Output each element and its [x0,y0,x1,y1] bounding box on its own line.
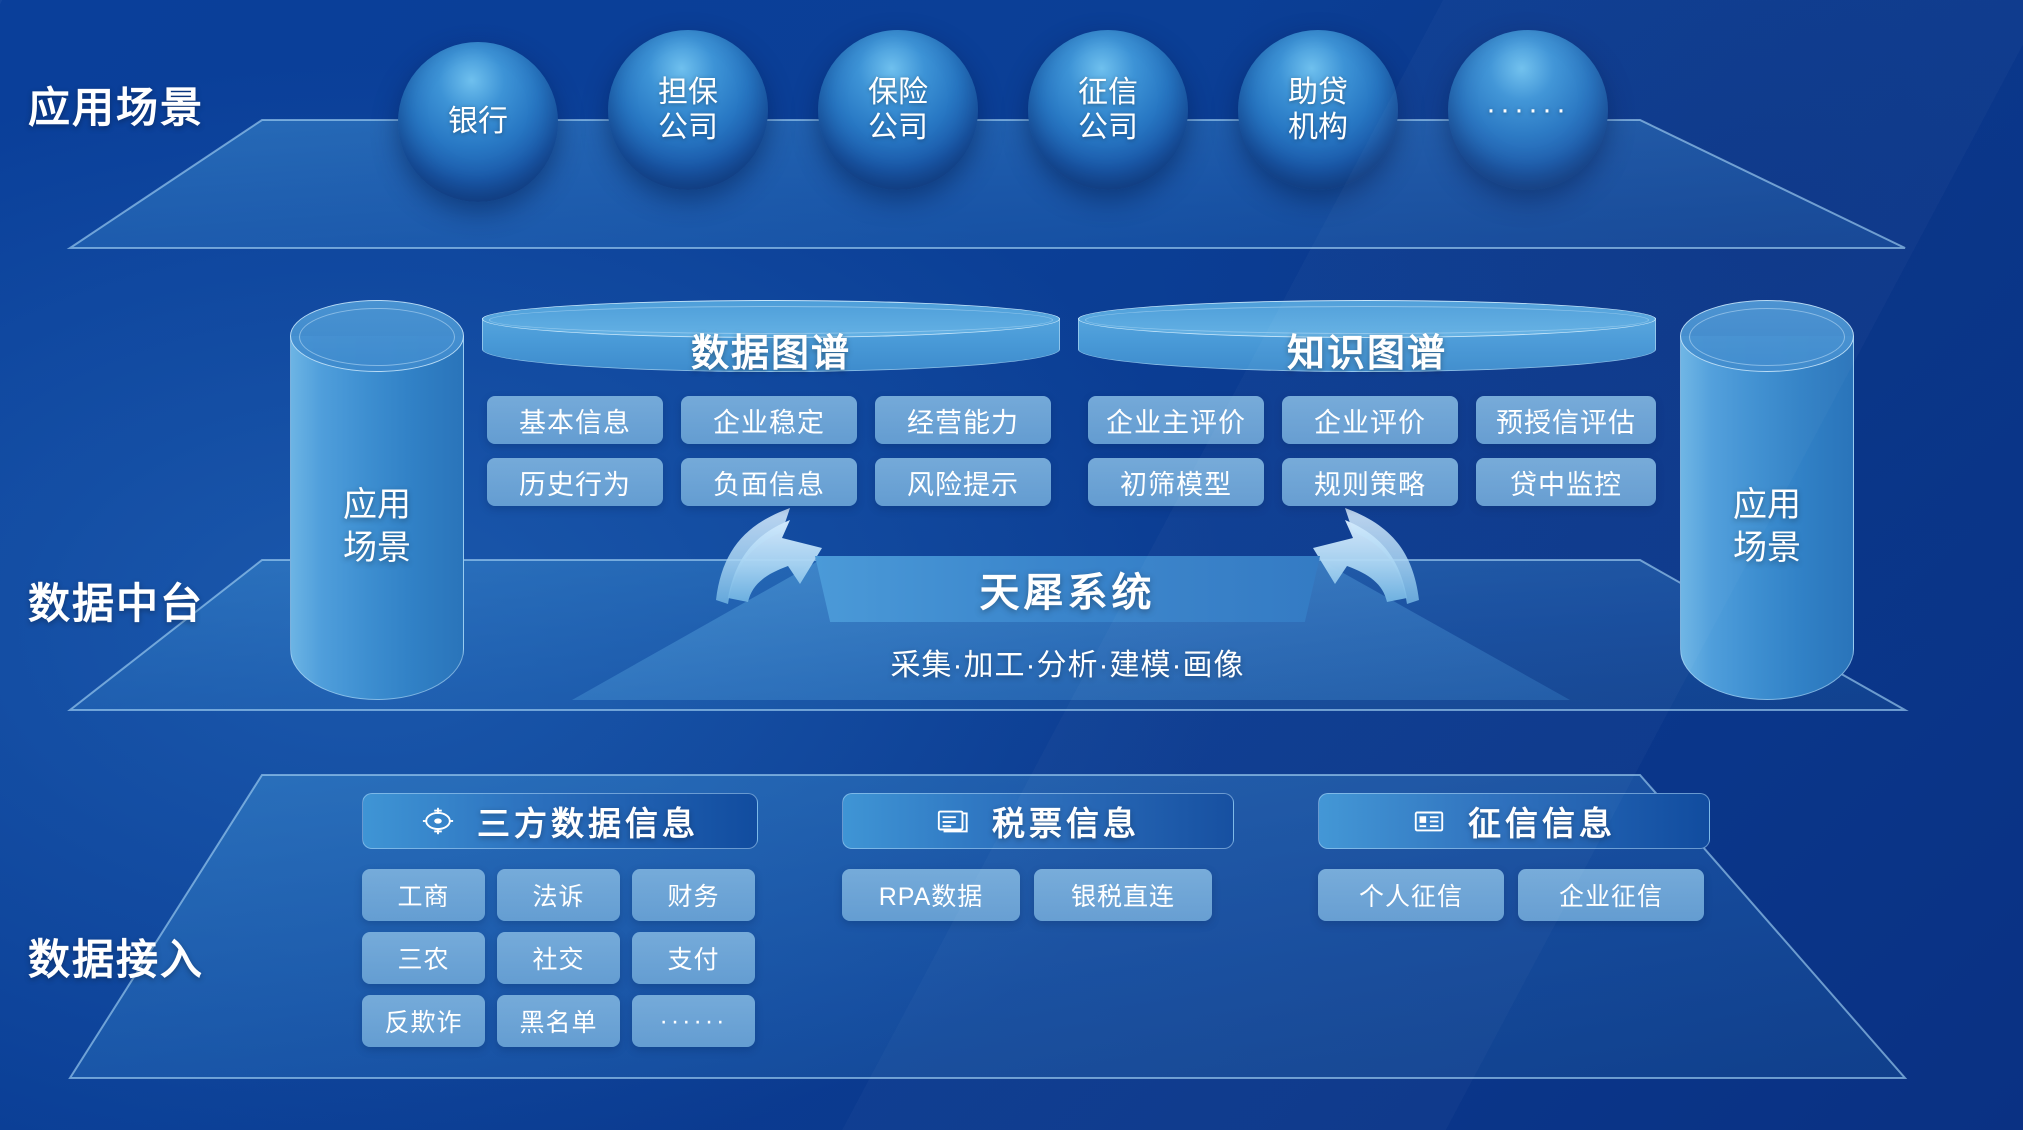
arrow-up-right-icon [1313,508,1419,604]
application-layer-plate [70,120,1905,248]
invoice-icon [936,804,970,838]
chip-third-party[interactable]: 黑名单 [497,995,620,1047]
chip-label: 经营能力 [907,401,1019,440]
chip-label: 工商 [397,877,449,913]
chip-label: 负面信息 [713,463,825,502]
chip-data-graph[interactable]: 基本信息 [487,396,663,444]
chip-third-party[interactable]: ······ [632,995,755,1047]
chip-label: 初筛模型 [1120,463,1232,502]
engine-subtitle: 采集·加工·分析·建模·画像 [815,640,1320,684]
pillar-left-application-scenario[interactable]: 应用 场景 [290,300,464,700]
sphere-bank[interactable]: 银行 [398,42,558,202]
sphere-label: ······ [1486,92,1570,127]
chip-label: RPA数据 [879,877,984,913]
sphere-lending-agency[interactable]: 助贷 机构 [1238,30,1398,190]
pillar-cap-inner [299,308,455,366]
chip-data-graph[interactable]: 企业稳定 [681,396,857,444]
pillar-cap-inner [1689,308,1845,366]
group-header-tax-invoice[interactable]: 税票信息 [842,793,1234,849]
pillar-cap [290,300,464,372]
chip-label: 预授信评估 [1496,401,1636,440]
pillar-label: 应用 场景 [290,484,464,569]
chip-label: 基本信息 [519,401,631,440]
row-label-data-access: 数据接入 [28,926,204,987]
chip-third-party[interactable]: 支付 [632,932,755,984]
chip-third-party[interactable]: 社交 [497,932,620,984]
chip-label: 银税直连 [1071,877,1175,913]
data-graph-title: 数据图谱 [482,322,1060,377]
chip-third-party[interactable]: 三农 [362,932,485,984]
chip-data-graph[interactable]: 风险提示 [875,458,1051,506]
chip-data-graph[interactable]: 负面信息 [681,458,857,506]
chip-credit-report[interactable]: 企业征信 [1518,869,1704,921]
group-tax-invoice: 税票信息 [842,793,1234,849]
sphere-label: 征信 公司 [1078,75,1138,146]
chip-knowledge-graph[interactable]: 贷中监控 [1476,458,1656,506]
target-crosshair-icon [421,804,455,838]
chip-label: 三农 [397,940,449,976]
chip-label: 个人征信 [1359,877,1463,913]
sphere-label: 保险 公司 [868,75,928,146]
chip-knowledge-graph[interactable]: 预授信评估 [1476,396,1656,444]
engine-title: 天犀系统 [980,560,1156,618]
chip-label: 法诉 [532,877,584,913]
row-label-middle-platform: 数据中台 [28,570,204,631]
chip-label: 支付 [667,940,719,976]
chip-tax-invoice[interactable]: RPA数据 [842,869,1020,921]
group-header-credit-report[interactable]: 征信信息 [1318,793,1710,849]
chip-label: 企业稳定 [713,401,825,440]
pillar-label: 应用 场景 [1680,484,1854,569]
chip-label: 财务 [667,877,719,913]
sphere-label: 助贷 机构 [1288,75,1348,146]
chip-knowledge-graph[interactable]: 企业主评价 [1088,396,1264,444]
sphere-label: 担保 公司 [658,75,718,146]
chip-label: 社交 [532,940,584,976]
chip-data-graph[interactable]: 经营能力 [875,396,1051,444]
chip-tax-invoice[interactable]: 银税直连 [1034,869,1212,921]
engine-banner[interactable]: 天犀系统 [815,556,1320,622]
pillar-cap [1680,300,1854,372]
knowledge-graph-title: 知识图谱 [1078,322,1656,377]
sphere-guarantee[interactable]: 担保 公司 [608,30,768,190]
chip-credit-report[interactable]: 个人征信 [1318,869,1504,921]
chip-label: 规则策略 [1314,463,1426,502]
sphere-insurance[interactable]: 保险 公司 [818,30,978,190]
group-title: 税票信息 [992,797,1140,845]
chip-third-party[interactable]: 法诉 [497,869,620,921]
arrow-up-left-icon [716,508,822,604]
pillar-right-application-scenario[interactable]: 应用 场景 [1680,300,1854,700]
chip-data-graph[interactable]: 历史行为 [487,458,663,506]
sphere-label: 银行 [448,104,508,139]
chip-third-party[interactable]: 反欺诈 [362,995,485,1047]
chip-label: 黑名单 [519,1003,597,1039]
sphere-credit-company[interactable]: 征信 公司 [1028,30,1188,190]
group-header-third-party-data[interactable]: 三方数据信息 [362,793,758,849]
knowledge-graph-disc[interactable]: 知识图谱 [1078,300,1656,376]
group-credit-report: 征信信息 [1318,793,1710,849]
chip-label: 企业征信 [1559,877,1663,913]
sphere-more[interactable]: ······ [1448,30,1608,190]
chip-knowledge-graph[interactable]: 初筛模型 [1088,458,1264,506]
chip-knowledge-graph[interactable]: 规则策略 [1282,458,1458,506]
architecture-diagram: 应用场景 数据中台 数据接入 银行 担保 公司 保险 公司 征信 公司 助贷 机… [0,0,2023,1130]
id-card-icon [1412,804,1446,838]
row-label-application: 应用场景 [28,74,204,135]
chip-label: 反欺诈 [384,1003,462,1039]
chip-third-party[interactable]: 财务 [632,869,755,921]
chip-knowledge-graph[interactable]: 企业评价 [1282,396,1458,444]
chip-label: 贷中监控 [1510,463,1622,502]
chip-label: 企业评价 [1314,401,1426,440]
group-title: 三方数据信息 [477,797,699,845]
chip-label: 企业主评价 [1106,401,1246,440]
chip-label: 风险提示 [907,463,1019,502]
group-title: 征信信息 [1468,797,1616,845]
chip-label: 历史行为 [519,463,631,502]
data-graph-disc[interactable]: 数据图谱 [482,300,1060,376]
chip-third-party[interactable]: 工商 [362,869,485,921]
chip-label: ······ [660,1007,728,1036]
